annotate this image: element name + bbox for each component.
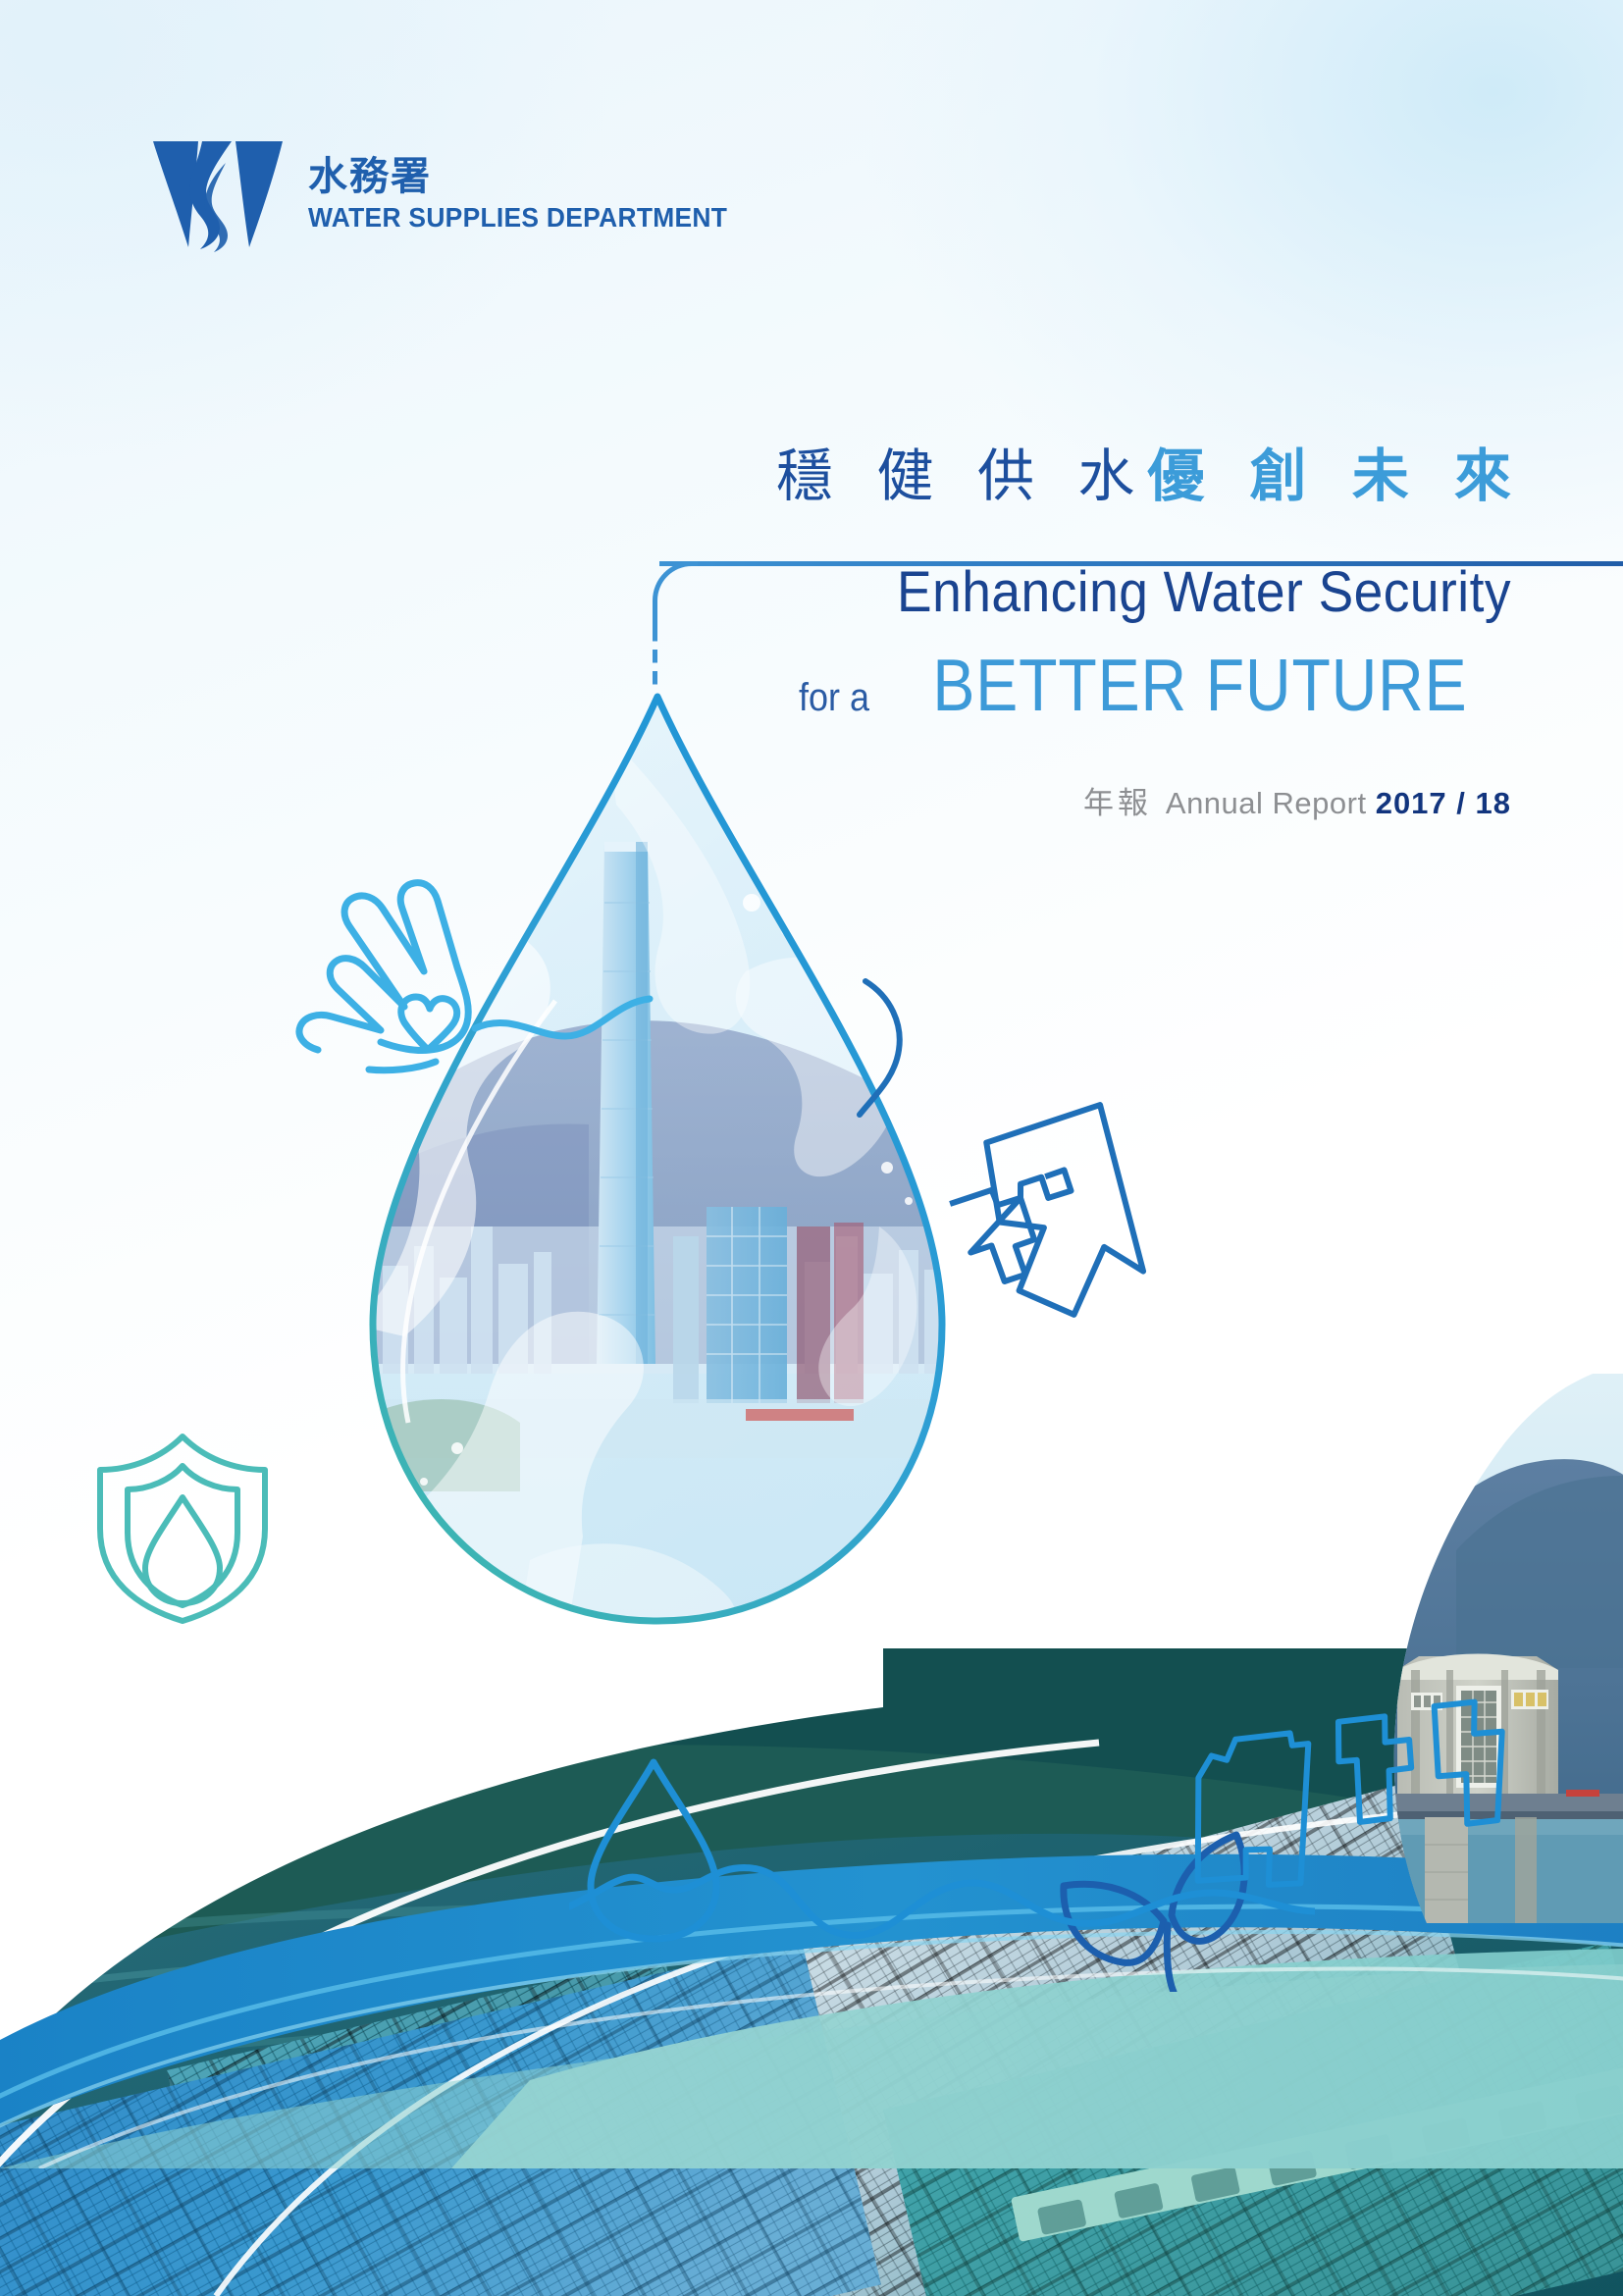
report-label-en: Annual Report: [1166, 786, 1367, 820]
headline-rule-dashes: [653, 628, 657, 693]
flow-connector-line: [471, 942, 981, 1197]
title-chinese: 穩 健 供 水優 創 未 來: [746, 446, 1524, 506]
wsd-wave-logo-mark: [149, 135, 287, 253]
logo-name-cn: 水務署: [308, 155, 745, 198]
headline-block: 穩 健 供 水優 創 未 來 Enhancing Water Security …: [746, 446, 1511, 822]
wsd-logo: 水務署 WATER SUPPLIES DEPARTMENT: [149, 135, 745, 253]
title-chinese-part1: 穩 健 供 水: [776, 443, 1147, 509]
annual-report-cover: 水務署 WATER SUPPLIES DEPARTMENT 穩 健 供 水優 創…: [0, 0, 1623, 2296]
small-droplet-wave-icon: [569, 1727, 1315, 2002]
report-line: 年報 Annual Report 2017 / 18: [746, 778, 1511, 822]
report-year: 2017 / 18: [1376, 786, 1511, 820]
tagline-better-future: BETTER FUTURE: [933, 643, 1468, 727]
title-chinese-part2: 優 創 未 來: [1147, 443, 1524, 509]
tagline-prefix: for a: [799, 676, 869, 720]
shield-with-droplet-icon: [84, 1413, 281, 1629]
tagline-line-2: for a BETTER FUTURE: [746, 643, 1511, 727]
cover-artwork: [0, 0, 1623, 2296]
logo-name-en: WATER SUPPLIES DEPARTMENT: [308, 202, 727, 234]
tagline-line-1: Enhancing Water Security: [807, 559, 1511, 625]
report-label-cn: 年報: [1083, 786, 1166, 821]
